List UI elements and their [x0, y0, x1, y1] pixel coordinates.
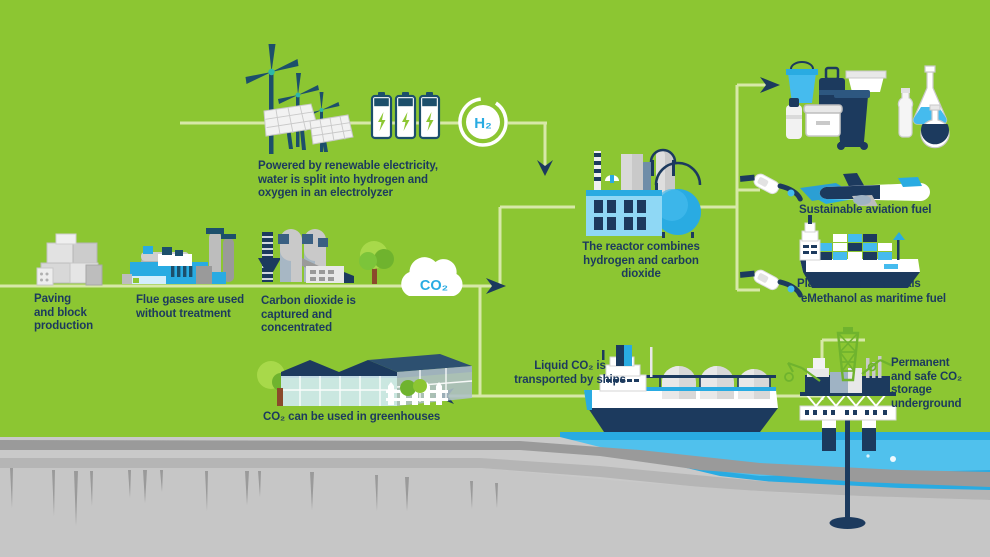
svg-text:H₂: H₂ — [474, 115, 492, 132]
label-maritime: eMethanol as maritime fuel — [801, 293, 946, 307]
label-reactor: The reactor combines hydrogen and carbon… — [576, 241, 706, 282]
svg-text:CO₂: CO₂ — [420, 278, 448, 294]
label-storage: Permanent and safe CO₂ storage undergrou… — [891, 357, 962, 411]
co2-cloud-icon: CO₂ — [401, 257, 462, 296]
battery-icon — [372, 92, 439, 138]
reactor-plant-icon — [586, 150, 701, 238]
offshore-platform-icon — [785, 327, 896, 529]
plastic-containers-lab-flasks-icon — [786, 62, 949, 150]
lng-carrier-ship-icon — [584, 345, 778, 432]
industrial-plant-icon — [122, 228, 236, 284]
label-renewables: Powered by renewable electricity, water … — [258, 160, 438, 201]
label-co2-capture: Carbon dioxide is captured and concentra… — [261, 295, 356, 336]
label-greenhouses: CO₂ can be used in greenhouses — [263, 411, 440, 425]
label-flue-gases: Flue gases are used without treatment — [136, 294, 244, 321]
wind-turbine-solar-panel-icon — [246, 44, 354, 154]
label-paving: Paving and block production — [34, 293, 93, 334]
greenhouse-icon — [257, 354, 472, 406]
solar-panel-small — [310, 115, 353, 144]
infographic-canvas: CO₂ H₂ — [0, 0, 990, 557]
label-transport: Liquid CO₂ is transported by ships — [505, 360, 635, 387]
label-aviation: Sustainable aviation fuel — [799, 204, 931, 218]
hydrogen-badge-icon: H₂ — [451, 90, 515, 154]
concrete-blocks-icon — [37, 234, 102, 285]
label-plastics: Plastics and chemicals — [797, 278, 921, 292]
capture-facility-icon — [258, 229, 394, 284]
